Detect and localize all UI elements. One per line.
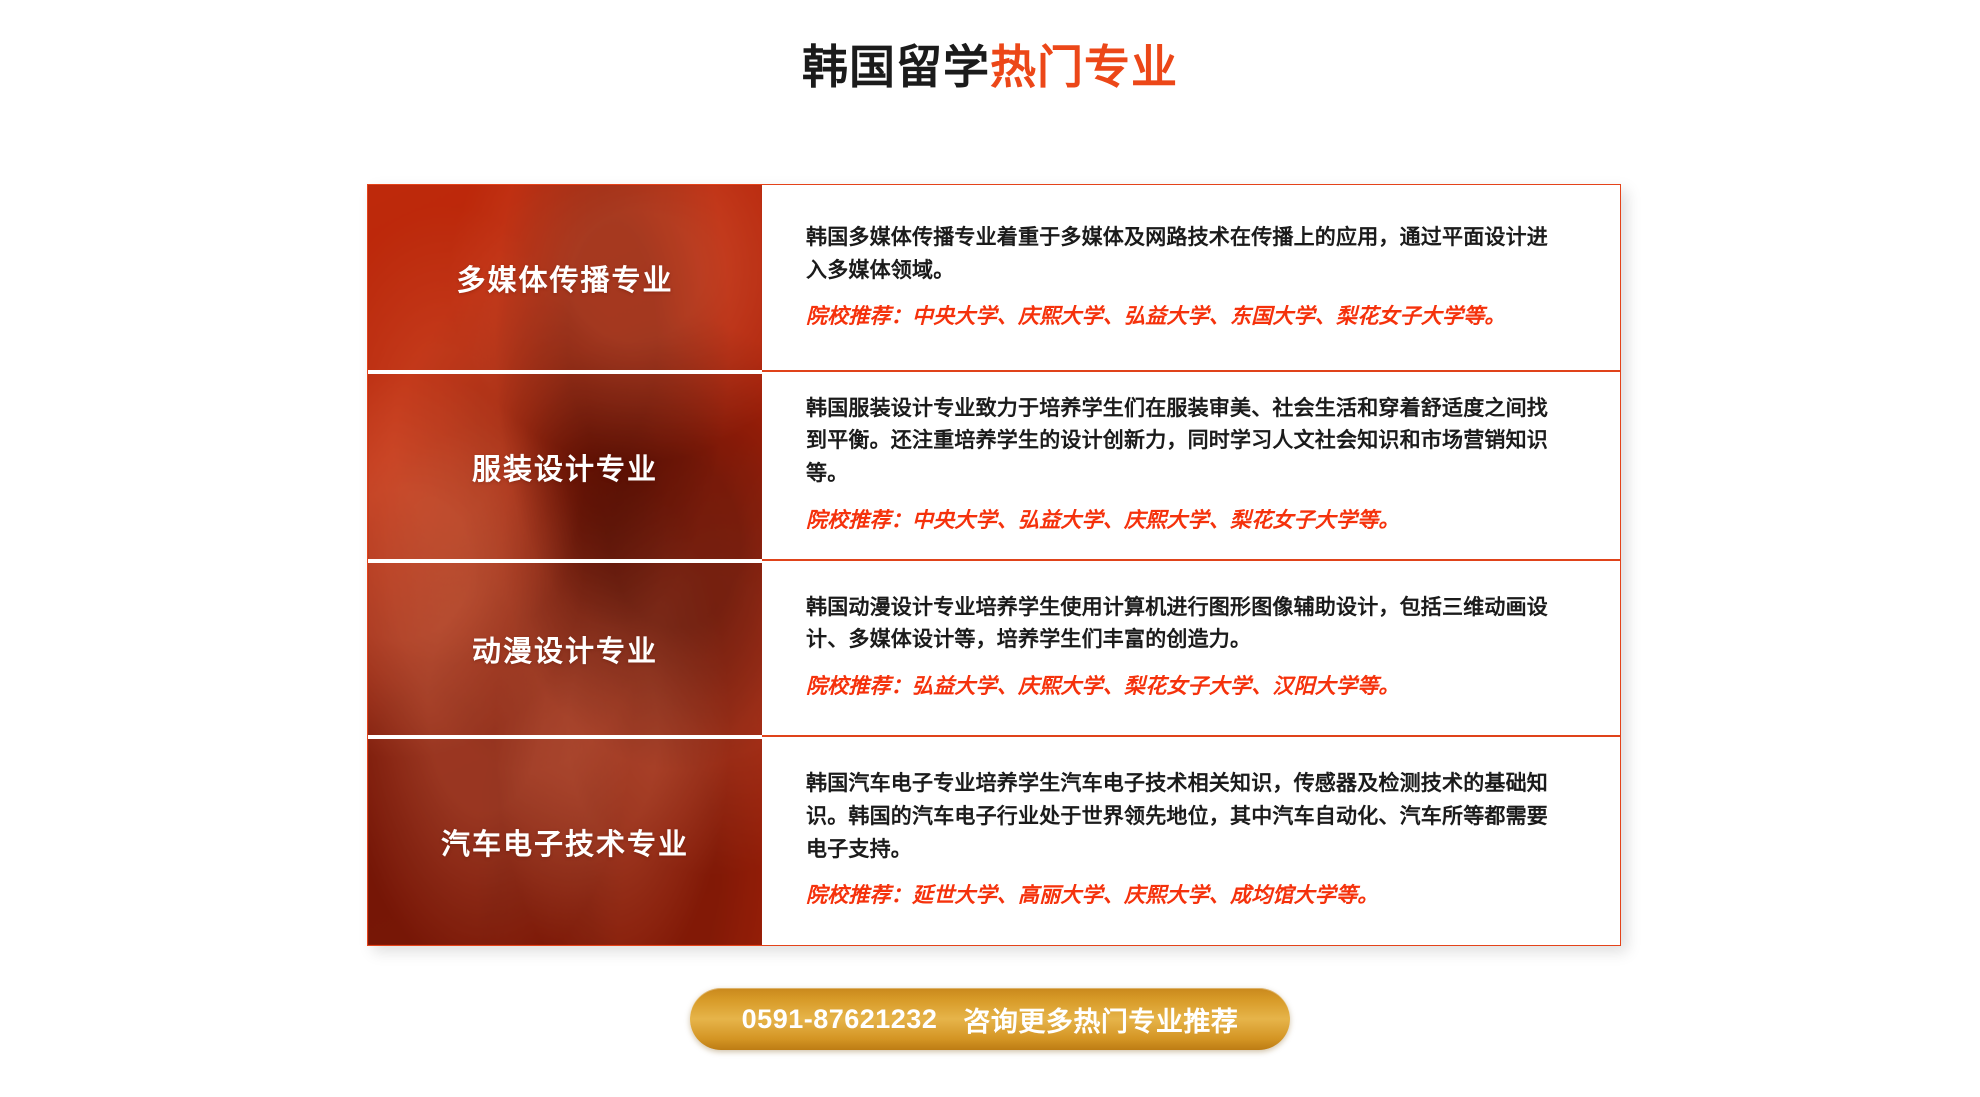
major-recommendation-4: 院校推荐：延世大学、高丽大学、庆熙大学、成均馆大学等。 [806,880,1564,912]
major-description-3: 韩国动漫设计专业培养学生使用计算机进行图形图像辅助设计，包括三维动画设计、多媒体… [806,592,1564,657]
major-detail-row-3: 韩国动漫设计专业培养学生使用计算机进行图形图像辅助设计，包括三维动画设计、多媒体… [762,559,1620,735]
major-description-column: 韩国多媒体传播专业着重于多媒体及网路技术在传播上的应用，通过平面设计进入多媒体领… [762,185,1620,945]
major-description-4: 韩国汽车电子专业培养学生汽车电子技术相关知识，传感器及检测技术的基础知识。韩国的… [806,768,1564,866]
major-name-1: 多媒体传播专业 [456,257,673,299]
major-recommendation-3: 院校推荐：弘益大学、庆熙大学、梨花女子大学、汉阳大学等。 [806,671,1564,703]
major-name-2: 服装设计专业 [472,446,658,488]
major-image-column: 多媒体传播专业 服装设计专业 动漫设计专业 汽车电子技术专业 [368,185,762,945]
page-title-dark: 韩国留学 [802,41,990,93]
major-detail-row-1: 韩国多媒体传播专业着重于多媒体及网路技术在传播上的应用，通过平面设计进入多媒体领… [762,185,1620,370]
major-recommendation-1: 院校推荐：中央大学、庆熙大学、弘益大学、东国大学、梨花女子大学等。 [806,301,1564,333]
major-image-cell-3[interactable]: 动漫设计专业 [368,559,762,735]
cta-label: 咨询更多热门专业推荐 [963,1000,1238,1039]
cta-container: 0591-87621232 咨询更多热门专业推荐 [0,988,1980,1050]
major-image-cell-4[interactable]: 汽车电子技术专业 [368,735,762,945]
majors-card: 多媒体传播专业 服装设计专业 动漫设计专业 汽车电子技术专业 韩国多媒体传播专业… [367,184,1621,946]
page-title: 韩国留学热门专业 [802,40,1178,95]
major-detail-row-2: 韩国服装设计专业致力于培养学生们在服装审美、社会生活和穿着舒适度之间找到平衡。还… [762,370,1620,559]
major-name-3: 动漫设计专业 [472,628,658,670]
major-detail-row-4: 韩国汽车电子专业培养学生汽车电子技术相关知识，传感器及检测技术的基础知识。韩国的… [762,735,1620,945]
page-header: 韩国留学热门专业 [0,0,1980,95]
major-recommendation-2: 院校推荐：中央大学、弘益大学、庆熙大学、梨花女子大学等。 [806,505,1564,537]
major-description-1: 韩国多媒体传播专业着重于多媒体及网路技术在传播上的应用，通过平面设计进入多媒体领… [806,222,1564,287]
major-description-2: 韩国服装设计专业致力于培养学生们在服装审美、社会生活和穿着舒适度之间找到平衡。还… [806,393,1564,491]
major-image-cell-2[interactable]: 服装设计专业 [368,370,762,559]
page-title-accent: 热门专业 [990,41,1178,93]
cta-phone-number: 0591-87621232 [742,1004,938,1035]
consult-button[interactable]: 0591-87621232 咨询更多热门专业推荐 [690,988,1291,1050]
major-name-4: 汽车电子技术专业 [441,821,689,863]
major-image-cell-1[interactable]: 多媒体传播专业 [368,185,762,370]
